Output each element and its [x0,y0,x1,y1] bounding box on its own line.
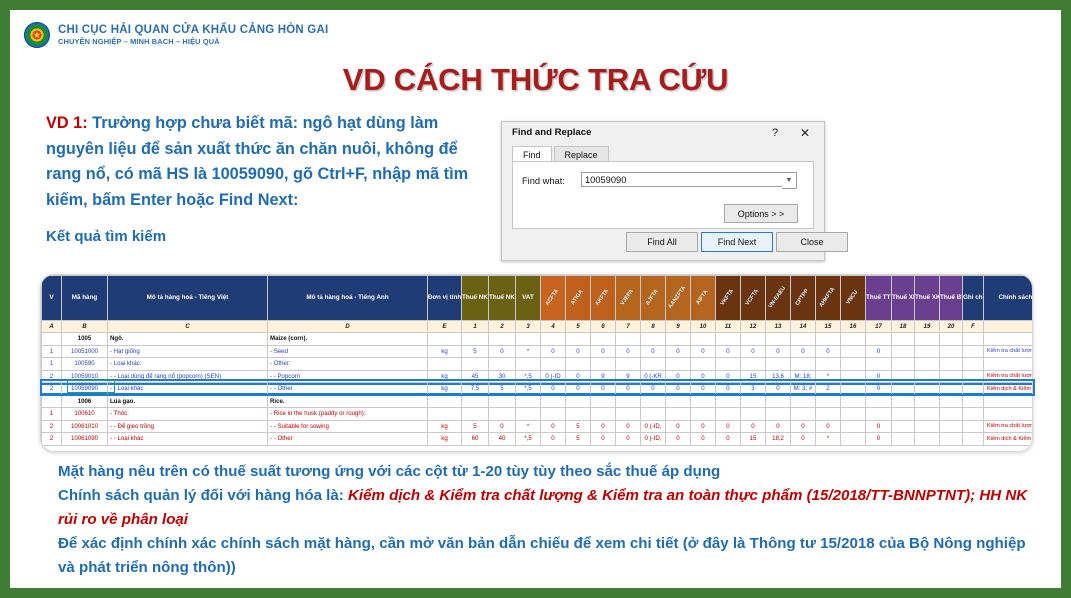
cell[interactable]: 5 [462,420,489,433]
cell[interactable]: 2 [816,383,841,396]
cell[interactable]: * [816,370,841,383]
cell[interactable]: 0 [816,345,841,358]
col-header-23[interactable]: Thuế XK CP TPP [915,276,940,321]
cell[interactable] [940,433,963,446]
col-letter: 14 [791,321,816,333]
col-header-3[interactable]: Mô tả hàng hoá - Tiếng Anh [268,276,428,321]
search-results-table[interactable]: VMã hàngMô tả hàng hoá - Tiếng ViệtMô tả… [40,274,1033,452]
cell[interactable]: 0 [666,420,691,433]
cell[interactable]: Kiểm dịch & Kiểm tra chất l [984,433,1034,446]
cell[interactable] [791,358,816,371]
cell[interactable]: 0 [541,383,566,396]
cell[interactable] [816,395,841,408]
cell[interactable]: 7,5 [462,383,489,396]
find-what-label: Find what: [522,176,565,186]
cell[interactable]: - - Loại khác [108,433,268,446]
col-header-8[interactable]: ACFTA [541,276,566,321]
cell[interactable]: 15 [741,433,766,446]
cell[interactable] [963,333,984,346]
cell[interactable] [866,358,892,371]
cell[interactable] [641,408,666,421]
cell[interactable]: 0 [541,345,566,358]
table-row[interactable]: 210059090- - Loại khác- - Otherkg7,55*,5… [42,383,1034,396]
cell[interactable]: 0 [791,433,816,446]
cell[interactable]: 100590 [62,358,108,371]
cell[interactable]: 15 [741,370,766,383]
cell[interactable] [841,395,866,408]
bottom-notes: Mặt hàng nêu trên có thuế suất tương ứng… [58,460,1038,580]
cell[interactable]: 0 [641,345,666,358]
note-line-1: Mặt hàng nêu trên có thuế suất tương ứng… [58,460,1038,484]
cell[interactable]: 10059010 [62,370,108,383]
cell[interactable] [462,333,489,346]
cell[interactable]: Ngô. [108,333,268,346]
cell[interactable]: Kiểm dịch & Kiểm tra chất lư [984,383,1034,396]
cell[interactable]: 0 [541,420,566,433]
cell[interactable]: 0 [716,370,741,383]
cell[interactable] [892,408,915,421]
cell[interactable] [666,333,691,346]
cell[interactable] [641,358,666,371]
cell[interactable] [915,420,940,433]
cell[interactable] [591,333,616,346]
col-header-25[interactable]: Ghi chú [963,276,984,321]
cell[interactable] [541,333,566,346]
table-row[interactable]: 1100590- Loại khác:- Other: [42,358,1034,371]
cell[interactable] [616,333,641,346]
cell[interactable]: - - Suitable for sowing [268,420,428,433]
cell[interactable] [616,395,641,408]
cell[interactable]: 1 [42,358,62,371]
cell[interactable]: 0 [616,420,641,433]
cell[interactable] [915,408,940,421]
cell[interactable] [963,420,984,433]
cell[interactable]: 2 [42,370,62,383]
cell[interactable]: 0 [866,383,892,396]
cell[interactable] [892,345,915,358]
cell[interactable]: 3 [741,383,766,396]
table-row[interactable]: 210061010- - Để gieo trồng- - Suitable f… [42,420,1034,433]
cell[interactable] [915,395,940,408]
help-icon[interactable]: ? [762,124,788,143]
col-letter: 20 [940,321,963,333]
col-header-19[interactable]: AHKFTA [816,276,841,321]
col-letter: 15 [816,321,841,333]
cell[interactable] [841,408,866,421]
find-all-button[interactable]: Find All [626,232,698,252]
cell[interactable]: 0 [691,345,716,358]
col-header-11[interactable]: VJEPA [616,276,641,321]
cell[interactable] [541,358,566,371]
cell[interactable]: M: 3; # [791,383,816,396]
cell[interactable] [766,358,791,371]
cell[interactable] [641,333,666,346]
cell[interactable] [866,408,892,421]
cell[interactable] [516,395,541,408]
cell[interactable]: 0 [866,370,892,383]
cell[interactable]: 0 [666,370,691,383]
cell[interactable]: 10061090 [62,433,108,446]
cell[interactable] [666,395,691,408]
col-header-2[interactable]: Mô tả hàng hoá - Tiếng Việt [108,276,268,321]
cell[interactable] [915,358,940,371]
cell[interactable]: 0 [641,383,666,396]
cell[interactable]: Kiểm tra chất lượng (15/2018 [984,345,1034,358]
cell[interactable] [963,433,984,446]
cell[interactable]: 0 [766,383,791,396]
chevron-down-icon[interactable]: ▼ [782,172,797,189]
cell[interactable] [940,420,963,433]
cell[interactable] [940,333,963,346]
cell[interactable]: Rice. [268,395,428,408]
cell[interactable] [691,358,716,371]
cell[interactable]: 0 [716,420,741,433]
cell[interactable] [940,408,963,421]
cell[interactable] [791,395,816,408]
col-header-26[interactable]: Chính sách mặt hàng theo mã HS [984,276,1034,321]
cell[interactable]: Lúa gạo. [108,395,268,408]
cell[interactable]: * [816,433,841,446]
options-button[interactable]: Options > > [724,204,798,223]
cell[interactable] [691,408,716,421]
cell[interactable]: - - Popcorn [268,370,428,383]
cell[interactable] [892,358,915,371]
close-icon[interactable]: ✕ [792,124,818,143]
cell[interactable]: - - Other [268,433,428,446]
cell[interactable]: 30 [489,370,516,383]
cell[interactable] [489,358,516,371]
cell[interactable] [741,358,766,371]
cell[interactable]: 10051000 [62,345,108,358]
close-button[interactable]: Close [776,232,848,252]
cell[interactable] [741,333,766,346]
cell[interactable]: M: 18; [791,370,816,383]
cell[interactable]: 2 [42,383,62,396]
cell[interactable] [591,408,616,421]
cell[interactable] [766,333,791,346]
cell[interactable]: 0 (-ID, [641,433,666,446]
cell[interactable]: 0 [741,420,766,433]
cell[interactable] [616,408,641,421]
col-header-15[interactable]: VKFTA [716,276,741,321]
cell[interactable] [766,408,791,421]
cell[interactable]: 0 [666,433,691,446]
cell[interactable]: 0 [616,345,641,358]
col-header-9[interactable]: ATIGA [566,276,591,321]
cell[interactable]: 0 [591,420,616,433]
cell[interactable]: 0 [591,383,616,396]
cell[interactable]: 0 [866,345,892,358]
cell[interactable] [841,383,866,396]
cell[interactable] [866,333,892,346]
cell[interactable]: 0 [866,433,892,446]
cell[interactable]: 0 [716,433,741,446]
cell[interactable] [716,408,741,421]
cell[interactable]: 5 [489,383,516,396]
cell[interactable] [984,408,1034,421]
cell[interactable]: 0 [716,345,741,358]
cell[interactable] [841,420,866,433]
cell[interactable] [791,408,816,421]
cell[interactable] [516,333,541,346]
cell[interactable] [566,333,591,346]
col-header-17[interactable]: VN-EAEU [766,276,791,321]
cell[interactable] [489,333,516,346]
cell[interactable]: 18,2 [766,433,791,446]
intro-lead: VD 1: [46,114,88,132]
col-header-21[interactable]: Thuế TT ĐB [866,276,892,321]
cell[interactable]: 0 [566,345,591,358]
cell[interactable]: 9 [616,370,641,383]
cell[interactable]: 10059090 [62,383,108,396]
cell[interactable] [428,395,462,408]
cell[interactable]: 9 [591,370,616,383]
cell[interactable]: 0 [666,345,691,358]
cell[interactable]: 0 [691,383,716,396]
cell[interactable]: 1 [42,408,62,421]
cell[interactable] [940,395,963,408]
cell[interactable]: 13,6 [766,370,791,383]
cell[interactable] [866,395,892,408]
cell[interactable]: 0 [791,345,816,358]
cell[interactable] [591,395,616,408]
cell[interactable] [741,395,766,408]
cell[interactable] [791,333,816,346]
cell[interactable] [691,395,716,408]
cell[interactable] [716,333,741,346]
cell[interactable]: 0 [766,345,791,358]
cell[interactable] [489,408,516,421]
cell[interactable] [591,358,616,371]
col-header-18[interactable]: CPTPP [791,276,816,321]
cell[interactable] [892,420,915,433]
cell[interactable] [892,395,915,408]
cell[interactable]: kg [428,383,462,396]
cell[interactable] [541,408,566,421]
cell[interactable] [541,395,566,408]
cell[interactable] [892,333,915,346]
cell[interactable] [841,370,866,383]
cell[interactable] [963,345,984,358]
cell[interactable] [984,333,1034,346]
cell[interactable] [428,408,462,421]
cell[interactable] [892,370,915,383]
table-row[interactable]: 1100610- Thóc:- Rice in the husk (paddy … [42,408,1034,421]
cell[interactable]: 0 (-KR [641,370,666,383]
cell[interactable]: 0 [691,420,716,433]
col-header-22[interactable]: Thuế XK [892,276,915,321]
cell[interactable]: *,5 [516,383,541,396]
cell[interactable]: 0 [691,370,716,383]
header-row: VMã hàngMô tả hàng hoá - Tiếng ViệtMô tả… [42,276,1034,321]
cell[interactable]: 0 [816,420,841,433]
cell[interactable]: - Thóc: [108,408,268,421]
cell[interactable] [42,333,62,346]
cell[interactable] [616,358,641,371]
cell[interactable] [963,370,984,383]
cell[interactable]: - Other: [268,358,428,371]
col-header-20[interactable]: VNCU [841,276,866,321]
col-header-6[interactable]: Thuế NK ưu đãi [489,276,516,321]
cell[interactable] [915,345,940,358]
cell[interactable] [428,358,462,371]
col-header-16[interactable]: VCFTA [741,276,766,321]
table-row[interactable]: 210061090- - Loại khác- - Otherkg6040*,5… [42,433,1034,446]
cell[interactable]: 100610 [62,408,108,421]
cell[interactable] [915,383,940,396]
table-row[interactable]: 210059010- - Loại dùng để rang nổ (popco… [42,370,1034,383]
cell[interactable]: 1006 [62,395,108,408]
table-row[interactable]: 1005Ngô.Maize (corn). [42,333,1034,346]
cell[interactable]: - - Loại khác [108,383,268,396]
cell[interactable] [984,395,1034,408]
table-body: ABCDE1234567891011121314151617181920FG 1… [42,321,1034,446]
cell[interactable]: 45 [462,370,489,383]
cell[interactable]: *,5 [516,433,541,446]
cell[interactable] [516,358,541,371]
cell[interactable]: - - Để gieo trồng [108,420,268,433]
cell[interactable] [816,408,841,421]
cell[interactable] [963,408,984,421]
cell[interactable] [566,408,591,421]
cell[interactable] [940,358,963,371]
cell[interactable]: Kiểm tra chất lượng (15/2018 [984,420,1034,433]
cell[interactable]: 10061010 [62,420,108,433]
col-letter: 9 [666,321,691,333]
cell[interactable] [816,358,841,371]
cell[interactable] [566,395,591,408]
cell[interactable] [841,433,866,446]
col-header-10[interactable]: AKFTA [591,276,616,321]
cell[interactable]: 0 [691,433,716,446]
cell[interactable] [963,358,984,371]
cell[interactable]: 0 (-ID [541,370,566,383]
cell[interactable]: 0 [791,420,816,433]
cell[interactable] [741,408,766,421]
cell[interactable] [462,408,489,421]
cell[interactable]: - - Loại dùng để rang nổ (popcorn) (SEN) [108,370,268,383]
cell[interactable] [892,383,915,396]
col-header-7[interactable]: VAT [516,276,541,321]
cell[interactable]: 5 [462,345,489,358]
cell[interactable]: 60 [462,433,489,446]
cell[interactable] [841,358,866,371]
cell[interactable]: * [516,420,541,433]
cell[interactable] [641,395,666,408]
cell[interactable] [462,358,489,371]
col-header-13[interactable]: AANZFTA [666,276,691,321]
col-header-0[interactable]: V [42,276,62,321]
cell[interactable]: - Loại khác: [108,358,268,371]
col-header-5[interactable]: Thuế NK thông thường [462,276,489,321]
result-label: Kết quả tìm kiếm [46,228,166,245]
cell[interactable] [915,433,940,446]
slide-header: CHI CỤC HẢI QUAN CỬA KHẨU CẢNG HÒN GAI C… [24,22,328,48]
cell[interactable]: 5 [566,433,591,446]
cell[interactable]: - Seed [268,345,428,358]
cell[interactable]: - Rice in the husk (paddy or rough): [268,408,428,421]
cell[interactable]: 0 [591,433,616,446]
cell[interactable] [462,395,489,408]
cell[interactable]: Kiểm tra chất lượng & Kiểm t [984,370,1034,383]
cell[interactable]: - - Other [268,383,428,396]
cell[interactable] [666,358,691,371]
cell[interactable] [428,333,462,346]
cell[interactable]: kg [428,420,462,433]
cell[interactable] [940,383,963,396]
cell[interactable]: 0 [566,383,591,396]
cell[interactable]: kg [428,370,462,383]
cell[interactable] [963,395,984,408]
table-row[interactable]: 1006Lúa gạo.Rice. [42,395,1034,408]
cell[interactable]: 2 [42,420,62,433]
cell[interactable] [716,358,741,371]
col-header-24[interactable]: Thuế BV MT [940,276,963,321]
cell[interactable]: 0 [616,433,641,446]
col-header-14[interactable]: AIFTA [691,276,716,321]
cell[interactable] [841,333,866,346]
cell[interactable] [489,395,516,408]
cell[interactable]: 5 [566,420,591,433]
col-header-1[interactable]: Mã hàng [62,276,108,321]
table-row[interactable]: 110051000- Hạt giống- Seedkg50*000000000… [42,345,1034,358]
cell[interactable]: 1005 [62,333,108,346]
cell[interactable]: *,5 [516,370,541,383]
cell[interactable] [915,370,940,383]
cell[interactable]: kg [428,345,462,358]
cell[interactable] [816,333,841,346]
cell[interactable]: 0 [716,383,741,396]
cell[interactable] [666,408,691,421]
cell[interactable]: - Hạt giống [108,345,268,358]
cell[interactable] [940,345,963,358]
cell[interactable] [42,395,62,408]
cell[interactable] [516,408,541,421]
cell[interactable] [915,333,940,346]
cell[interactable]: 0 [866,420,892,433]
cell[interactable]: 0 [591,345,616,358]
cell[interactable]: 0 [766,420,791,433]
cell[interactable]: 0 [489,345,516,358]
cell[interactable]: 0 [541,433,566,446]
cell[interactable]: 2 [42,433,62,446]
col-header-12[interactable]: AJFTA [641,276,666,321]
cell[interactable] [841,345,866,358]
cell[interactable] [716,395,741,408]
cell[interactable] [940,370,963,383]
cell[interactable]: * [516,345,541,358]
cell[interactable]: 0 [616,383,641,396]
col-header-4[interactable]: Đơn vị tính [428,276,462,321]
cell[interactable] [566,358,591,371]
find-what-input[interactable] [581,172,796,187]
cell[interactable]: 0 [741,345,766,358]
cell[interactable]: 0 [666,383,691,396]
find-next-button[interactable]: Find Next [701,232,773,252]
cell[interactable] [691,333,716,346]
cell[interactable]: 0 [566,370,591,383]
cell[interactable] [963,383,984,396]
cell[interactable]: 1 [42,345,62,358]
cell[interactable]: Maize (corn). [268,333,428,346]
cell[interactable] [892,433,915,446]
cell[interactable] [766,395,791,408]
cell[interactable]: 0 [489,420,516,433]
cell[interactable] [984,358,1034,371]
cell[interactable]: 0 (-ID, [641,420,666,433]
cell[interactable]: 40 [489,433,516,446]
cell[interactable]: kg [428,433,462,446]
